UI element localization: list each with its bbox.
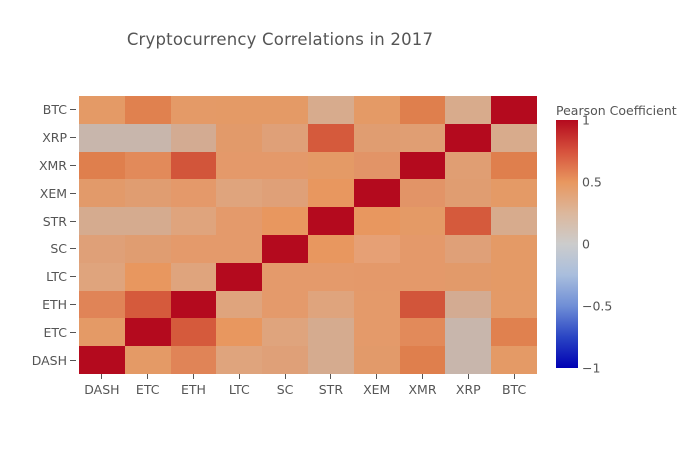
y-axis-tick-label: XEM bbox=[40, 186, 67, 201]
heatmap-cell[interactable] bbox=[79, 207, 125, 235]
heatmap-cell[interactable] bbox=[308, 346, 354, 374]
heatmap-cell[interactable] bbox=[125, 96, 171, 124]
y-axis-tickmark bbox=[70, 276, 76, 277]
x-axis-tickmark bbox=[285, 374, 286, 379]
heatmap-cell[interactable] bbox=[216, 152, 262, 180]
heatmap-cell[interactable] bbox=[125, 346, 171, 374]
y-axis-tickmark bbox=[70, 360, 76, 361]
y-axis-tick: XEM bbox=[0, 179, 79, 207]
y-axis-tick: DASH bbox=[0, 346, 79, 374]
y-axis-tick: ETH bbox=[0, 291, 79, 319]
heatmap-cell[interactable] bbox=[400, 318, 446, 346]
heatmap-cell[interactable] bbox=[354, 124, 400, 152]
chart-title: Cryptocurrency Correlations in 2017 bbox=[0, 30, 560, 49]
heatmap-cell[interactable] bbox=[171, 263, 217, 291]
y-axis-tick: ETC bbox=[0, 318, 79, 346]
heatmap-grid bbox=[79, 96, 537, 374]
x-axis-tick-label: XMR bbox=[408, 382, 436, 397]
colorbar-tick-label: 0.5 bbox=[582, 175, 602, 190]
heatmap-cell[interactable] bbox=[354, 291, 400, 319]
x-axis-tickmark bbox=[330, 374, 331, 379]
heatmap-cell[interactable] bbox=[79, 263, 125, 291]
x-axis-tick: BTC bbox=[491, 374, 537, 404]
heatmap-cell[interactable] bbox=[262, 235, 308, 263]
heatmap-cell[interactable] bbox=[79, 152, 125, 180]
colorbar-tick-label: 0 bbox=[582, 237, 590, 252]
heatmap-cell[interactable] bbox=[125, 207, 171, 235]
x-axis: DASHETCETHLTCSCSTRXEMXMRXRPBTC bbox=[79, 374, 537, 404]
heatmap-cell[interactable] bbox=[216, 318, 262, 346]
y-axis-tick-label: LTC bbox=[46, 269, 67, 284]
x-axis-tick-label: XRP bbox=[456, 382, 481, 397]
heatmap-cell[interactable] bbox=[216, 124, 262, 152]
heatmap-cell[interactable] bbox=[308, 235, 354, 263]
heatmap-cell[interactable] bbox=[354, 152, 400, 180]
y-axis-tick-label: SC bbox=[50, 241, 67, 256]
heatmap-cell[interactable] bbox=[308, 291, 354, 319]
x-axis-tick: XMR bbox=[400, 374, 446, 404]
x-axis-tick: ETC bbox=[125, 374, 171, 404]
heatmap-cell[interactable] bbox=[400, 291, 446, 319]
heatmap-cell[interactable] bbox=[125, 263, 171, 291]
y-axis-tickmark bbox=[70, 109, 76, 110]
x-axis-tick-label: XEM bbox=[363, 382, 390, 397]
y-axis-tickmark bbox=[70, 137, 76, 138]
colorbar-tick-label: 1 bbox=[582, 113, 590, 128]
heatmap-cell[interactable] bbox=[445, 179, 491, 207]
y-axis-tickmark bbox=[70, 248, 76, 249]
heatmap-cell[interactable] bbox=[400, 179, 446, 207]
heatmap-cell[interactable] bbox=[308, 96, 354, 124]
x-axis-tick: DASH bbox=[79, 374, 125, 404]
y-axis-tickmark bbox=[70, 304, 76, 305]
x-axis-tick: ETH bbox=[171, 374, 217, 404]
heatmap-cell[interactable] bbox=[400, 207, 446, 235]
heatmap-cell[interactable] bbox=[79, 96, 125, 124]
heatmap-cell[interactable] bbox=[216, 179, 262, 207]
heatmap-cell[interactable] bbox=[216, 96, 262, 124]
heatmap-cell[interactable] bbox=[491, 207, 537, 235]
x-axis-tick: LTC bbox=[216, 374, 262, 404]
x-axis-tickmark bbox=[147, 374, 148, 379]
x-axis-tickmark bbox=[193, 374, 194, 379]
heatmap-cell[interactable] bbox=[354, 318, 400, 346]
heatmap-cell[interactable] bbox=[171, 235, 217, 263]
heatmap-cell[interactable] bbox=[445, 318, 491, 346]
heatmap-cell[interactable] bbox=[445, 346, 491, 374]
heatmap-cell[interactable] bbox=[79, 124, 125, 152]
y-axis-tickmark bbox=[70, 193, 76, 194]
y-axis-tick: XMR bbox=[0, 152, 79, 180]
y-axis-tick-label: DASH bbox=[32, 353, 67, 368]
heatmap-cell[interactable] bbox=[125, 291, 171, 319]
heatmap-cell[interactable] bbox=[354, 207, 400, 235]
heatmap-cell[interactable] bbox=[491, 235, 537, 263]
heatmap-cell[interactable] bbox=[491, 124, 537, 152]
heatmap-cell[interactable] bbox=[262, 263, 308, 291]
x-axis-tick: XEM bbox=[354, 374, 400, 404]
heatmap-cell[interactable] bbox=[400, 124, 446, 152]
colorbar-tick-label: −0.5 bbox=[582, 299, 612, 314]
heatmap-cell[interactable] bbox=[491, 346, 537, 374]
x-axis-tickmark bbox=[468, 374, 469, 379]
heatmap-cell[interactable] bbox=[79, 291, 125, 319]
y-axis-tick: SC bbox=[0, 235, 79, 263]
x-axis-tick-label: LTC bbox=[229, 382, 250, 397]
y-axis-tick-label: STR bbox=[43, 214, 67, 229]
heatmap-cell[interactable] bbox=[491, 318, 537, 346]
heatmap-cell[interactable] bbox=[400, 152, 446, 180]
x-axis-tick-label: ETH bbox=[181, 382, 206, 397]
heatmap-cell[interactable] bbox=[125, 235, 171, 263]
heatmap-cell[interactable] bbox=[400, 96, 446, 124]
heatmap-cell[interactable] bbox=[400, 235, 446, 263]
heatmap-cell[interactable] bbox=[125, 152, 171, 180]
heatmap-cell[interactable] bbox=[308, 152, 354, 180]
heatmap-cell[interactable] bbox=[79, 179, 125, 207]
x-axis-tick-label: BTC bbox=[502, 382, 526, 397]
heatmap-cell[interactable] bbox=[216, 235, 262, 263]
heatmap-cell[interactable] bbox=[445, 124, 491, 152]
heatmap-cell[interactable] bbox=[262, 96, 308, 124]
y-axis-tickmark bbox=[70, 221, 76, 222]
heatmap-cell[interactable] bbox=[308, 263, 354, 291]
y-axis-tick-label: ETC bbox=[43, 325, 67, 340]
x-axis-tickmark bbox=[239, 374, 240, 379]
heatmap-cell[interactable] bbox=[491, 179, 537, 207]
heatmap-cell[interactable] bbox=[171, 207, 217, 235]
y-axis-tick-label: BTC bbox=[43, 102, 67, 117]
heatmap-plot-area[interactable] bbox=[79, 96, 537, 374]
x-axis-tick: SC bbox=[262, 374, 308, 404]
colorbar-tick-label: −1 bbox=[582, 361, 600, 376]
heatmap-cell[interactable] bbox=[125, 179, 171, 207]
heatmap-cell[interactable] bbox=[262, 179, 308, 207]
heatmap-cell[interactable] bbox=[171, 96, 217, 124]
heatmap-cell[interactable] bbox=[216, 291, 262, 319]
heatmap-cell[interactable] bbox=[354, 235, 400, 263]
x-axis-tick-label: STR bbox=[319, 382, 343, 397]
x-axis-tick-label: ETC bbox=[136, 382, 160, 397]
y-axis-tickmark bbox=[70, 332, 76, 333]
heatmap-cell[interactable] bbox=[400, 346, 446, 374]
heatmap-cell[interactable] bbox=[262, 207, 308, 235]
y-axis: BTCXRPXMRXEMSTRSCLTCETHETCDASH bbox=[0, 96, 79, 374]
y-axis-tick: BTC bbox=[0, 96, 79, 124]
y-axis-tick: STR bbox=[0, 207, 79, 235]
heatmap-cell[interactable] bbox=[445, 207, 491, 235]
x-axis-tickmark bbox=[422, 374, 423, 379]
y-axis-tickmark bbox=[70, 165, 76, 166]
heatmap-cell[interactable] bbox=[445, 96, 491, 124]
heatmap-cell[interactable] bbox=[354, 263, 400, 291]
heatmap-cell[interactable] bbox=[400, 263, 446, 291]
x-axis-tickmark bbox=[376, 374, 377, 379]
heatmap-cell[interactable] bbox=[445, 291, 491, 319]
heatmap-cell[interactable] bbox=[171, 152, 217, 180]
y-axis-tick-label: XMR bbox=[39, 158, 67, 173]
y-axis-tick: LTC bbox=[0, 263, 79, 291]
heatmap-cell[interactable] bbox=[171, 179, 217, 207]
heatmap-cell[interactable] bbox=[125, 124, 171, 152]
heatmap-cell[interactable] bbox=[171, 124, 217, 152]
heatmap-cell[interactable] bbox=[354, 179, 400, 207]
heatmap-cell[interactable] bbox=[216, 207, 262, 235]
heatmap-cell[interactable] bbox=[79, 235, 125, 263]
heatmap-cell[interactable] bbox=[491, 291, 537, 319]
x-axis-tickmark bbox=[514, 374, 515, 379]
heatmap-cell[interactable] bbox=[262, 346, 308, 374]
heatmap-cell[interactable] bbox=[262, 152, 308, 180]
x-axis-tick-label: SC bbox=[277, 382, 294, 397]
heatmap-cell[interactable] bbox=[354, 346, 400, 374]
colorbar-title: Pearson Coefficient bbox=[556, 103, 677, 118]
heatmap-cell[interactable] bbox=[216, 346, 262, 374]
heatmap-cell[interactable] bbox=[354, 96, 400, 124]
x-axis-tick-label: DASH bbox=[84, 382, 119, 397]
heatmap-cell[interactable] bbox=[491, 96, 537, 124]
chart-figure: Cryptocurrency Correlations in 2017 BTCX… bbox=[0, 0, 700, 450]
y-axis-tick-label: XRP bbox=[42, 130, 67, 145]
heatmap-cell[interactable] bbox=[262, 291, 308, 319]
x-axis-tick: XRP bbox=[445, 374, 491, 404]
heatmap-cell[interactable] bbox=[308, 179, 354, 207]
heatmap-cell[interactable] bbox=[445, 263, 491, 291]
heatmap-cell[interactable] bbox=[125, 318, 171, 346]
heatmap-cell[interactable] bbox=[79, 318, 125, 346]
heatmap-cell[interactable] bbox=[216, 263, 262, 291]
heatmap-cell[interactable] bbox=[171, 318, 217, 346]
heatmap-cell[interactable] bbox=[491, 152, 537, 180]
heatmap-cell[interactable] bbox=[308, 207, 354, 235]
heatmap-cell[interactable] bbox=[445, 235, 491, 263]
heatmap-cell[interactable] bbox=[79, 346, 125, 374]
heatmap-cell[interactable] bbox=[262, 124, 308, 152]
heatmap-cell[interactable] bbox=[171, 291, 217, 319]
heatmap-cell[interactable] bbox=[308, 318, 354, 346]
heatmap-cell[interactable] bbox=[445, 152, 491, 180]
heatmap-cell[interactable] bbox=[491, 263, 537, 291]
x-axis-tickmark bbox=[101, 374, 102, 379]
heatmap-cell[interactable] bbox=[262, 318, 308, 346]
x-axis-tick: STR bbox=[308, 374, 354, 404]
y-axis-tick: XRP bbox=[0, 124, 79, 152]
heatmap-cell[interactable] bbox=[171, 346, 217, 374]
colorbar-gradient bbox=[556, 120, 578, 368]
colorbar-tick-labels: 10.50−0.5−1 bbox=[580, 120, 640, 368]
heatmap-cell[interactable] bbox=[308, 124, 354, 152]
y-axis-tick-label: ETH bbox=[42, 297, 67, 312]
